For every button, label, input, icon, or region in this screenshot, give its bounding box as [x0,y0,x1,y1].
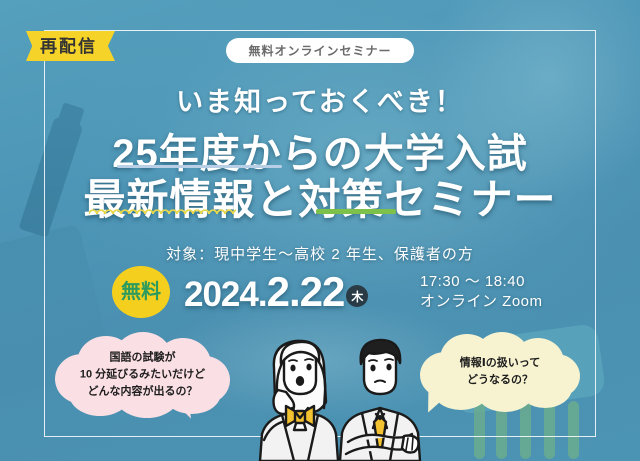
date-row: 無料 2024. 2.22 木 [112,266,368,318]
students-illustration [248,330,428,461]
free-badge-label: 無料 [121,282,161,302]
event-month-day: 2.22 [267,268,345,316]
free-badge: 無料 [112,266,170,318]
day-of-week-badge: 木 [346,285,368,307]
headline-line-2: 最新情報と対策セミナー [0,166,640,227]
seminar-type-label: 無料オンラインセミナー [226,38,413,63]
target-audience-text: 対象：現中学生〜高校 2 年生、保護者の方 [0,243,640,264]
right-bubble-line-2: どうなるの？ [420,372,580,389]
underline-green [316,209,396,214]
left-speech-bubble: 国語の試験が 10 分延びるみたいだけど どんな内容が出るの？ [55,332,230,418]
right-bubble-line-1: 情報Ⅰの扱いって [420,355,580,372]
left-bubble-line-2: 10 分延びるみたいだけど [55,366,230,383]
headline-kicker: いま知っておくべき！ [0,80,640,119]
event-year: 2024. [184,275,267,315]
event-time-range: 17:30 ～ 18:40 [420,272,543,292]
students-illustration-svg [248,330,428,461]
left-bubble-text: 国語の試験が 10 分延びるみたいだけど どんな内容が出るの？ [55,349,230,400]
left-bubble-line-1: 国語の試験が [55,349,230,366]
right-bubble-text: 情報Ⅰの扱いって どうなるの？ [420,355,580,389]
event-date: 2024. 2.22 木 [184,268,368,316]
seminar-poster: 再配信 無料オンラインセミナー いま知っておくべき！ 25年度からの大学入試 最… [0,0,640,461]
left-bubble-line-3: どんな内容が出るの？ [55,384,230,401]
event-platform: オンライン Zoom [420,292,543,312]
underline-yellow-wavy [89,208,236,214]
time-and-platform: 17:30 ～ 18:40 オンライン Zoom [420,272,543,313]
seminar-type-pill: 無料オンラインセミナー [0,38,640,63]
